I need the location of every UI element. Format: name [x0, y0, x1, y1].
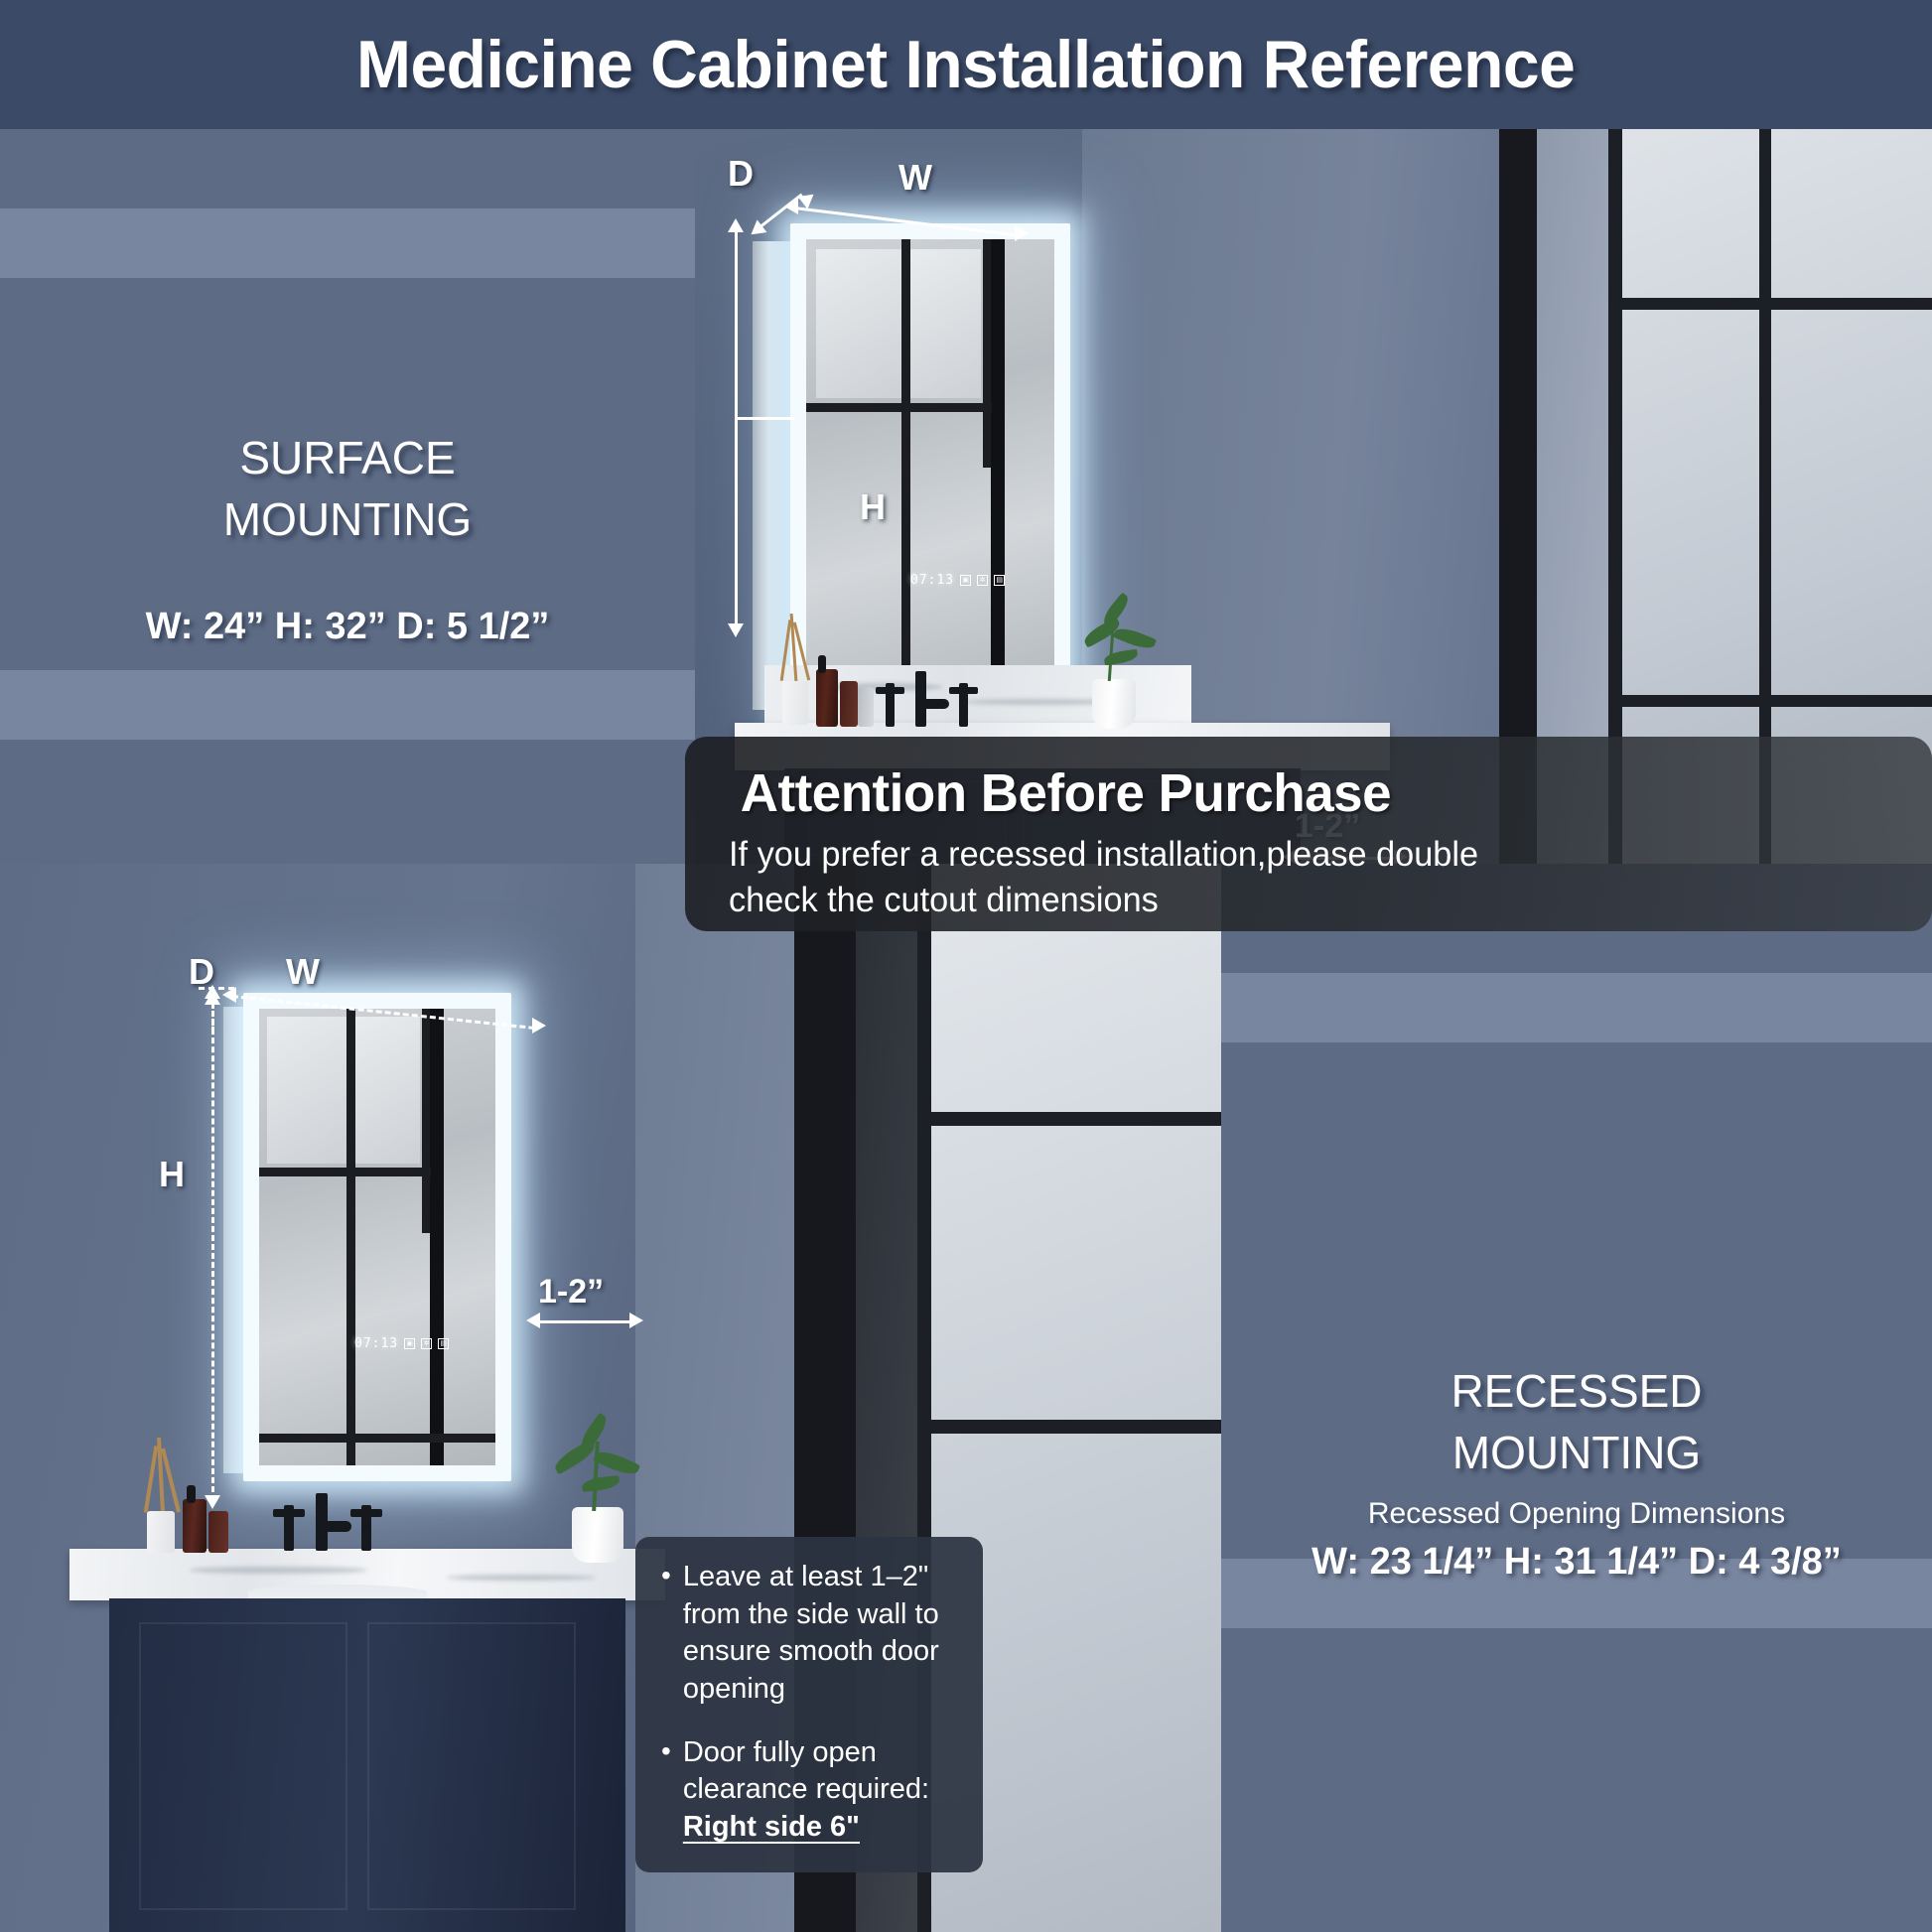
attention-body-line2: check the cutout dimensions	[729, 878, 1874, 923]
mullion-h-recessed-1	[917, 1112, 1221, 1126]
faucet-handle-left-cross	[876, 687, 904, 694]
decor-band-3	[1221, 973, 1932, 1042]
plant-leaf	[581, 1475, 620, 1492]
installation-notes: • Leave at least 1–2" from the side wall…	[635, 1537, 983, 1872]
surface-dimensions: W: 24” H: 32” D: 5 1/2”	[0, 606, 695, 648]
mirror-recessed: 07:13 ▣ ✲ ▤	[259, 1009, 495, 1465]
recessed-subtitle: Recessed Opening Dimensions	[1221, 1497, 1932, 1531]
led-button-defog[interactable]: ▣	[404, 1338, 415, 1349]
dim-arrow-h-up	[728, 218, 744, 232]
marble-vein	[189, 1567, 367, 1574]
mirror-line-h1	[806, 403, 992, 412]
led-control-panel[interactable]: 07:13 ▣ ✲ ▤	[910, 573, 1005, 588]
page-title: Medicine Cabinet Installation Reference	[356, 26, 1575, 103]
infographic-root: Medicine Cabinet Installation Reference	[0, 0, 1932, 1932]
dim-label-w-bottom: W	[286, 951, 320, 993]
dim-line-h-bottom	[211, 993, 214, 1501]
decor-band-2	[0, 670, 695, 740]
mirror-surface: 07:13 ▣ ✲ ▤	[806, 239, 1054, 704]
mirror-line-v3	[430, 1009, 444, 1465]
surface-title-line2: MOUNTING	[0, 488, 695, 550]
recessed-mounting-panel: 07:13 ▣ ✲ ▤	[0, 864, 1932, 1932]
amber-bottle-1-cap	[818, 655, 826, 673]
note-text-1: Leave at least 1–2" from the side wall t…	[683, 1559, 957, 1709]
attention-body-line1: If you prefer a recessed installation,pl…	[729, 832, 1874, 878]
led-control-panel-recessed[interactable]: 07:13 ▣ ✲ ▤	[354, 1336, 449, 1351]
dim-arrow-h-down-bottom	[205, 1495, 220, 1509]
note-item-1: • Leave at least 1–2" from the side wall…	[661, 1559, 957, 1709]
led-button-power[interactable]: ▤	[438, 1338, 449, 1349]
mirror-line-h2	[259, 1434, 495, 1443]
amber-bottle-1	[816, 669, 838, 727]
vanity-base-recessed	[109, 1598, 625, 1932]
vanity-door-left[interactable]	[139, 1622, 347, 1910]
silver-bottle	[858, 687, 874, 727]
dim-label-d-top: D	[728, 153, 754, 195]
recessed-title-line2: MOUNTING	[1221, 1422, 1932, 1483]
mirror-reflection-pane-2	[354, 1017, 420, 1164]
dim-arrow-gap-right-bottom	[629, 1312, 643, 1328]
mirror-line-v3	[991, 239, 1005, 704]
dim-label-w-top: W	[898, 157, 932, 199]
diffuser-bottle	[147, 1511, 175, 1553]
dim-tick-h-top	[735, 417, 794, 420]
faucet-spout-curve	[915, 699, 949, 709]
led-button-defog[interactable]: ▣	[960, 575, 971, 586]
recessed-dimensions: W: 23 1/4” H: 31 1/4” D: 4 3/8”	[1221, 1541, 1932, 1584]
bullet-icon: •	[661, 1734, 671, 1847]
attention-banner: Attention Before Purchase If you prefer …	[685, 737, 1932, 931]
note-item-2: • Door fully open clearance required: Ri…	[661, 1734, 957, 1847]
dim-arrow-w-right	[1015, 225, 1029, 241]
mirror-reflection-pane-1	[267, 1017, 346, 1164]
recessed-mounting-text: RECESSED MOUNTING Recessed Opening Dimen…	[1221, 1360, 1932, 1584]
mirror-line-v1	[346, 1009, 355, 1465]
mullion-h-bottom	[1608, 695, 1932, 707]
marble-vein	[447, 1575, 596, 1581]
amber-bottle-2	[208, 1511, 228, 1553]
mirror-line-v1	[901, 239, 910, 704]
note-text-2: Door fully open clearance required: Righ…	[683, 1734, 957, 1847]
mullion-h-top	[1608, 298, 1932, 310]
led-clock: 07:13	[910, 573, 954, 588]
plant-pot	[1092, 679, 1136, 729]
vanity-door-right[interactable]	[367, 1622, 576, 1910]
mullion-h-recessed-2	[917, 1420, 1221, 1434]
surface-mounting-text: SURFACE MOUNTING W: 24” H: 32” D: 5 1/2”	[0, 427, 695, 648]
medicine-cabinet-recessed: 07:13 ▣ ✲ ▤	[223, 993, 521, 1489]
dim-arrow-gap-left-bottom	[526, 1312, 540, 1328]
dim-line-gap-bottom	[536, 1320, 637, 1323]
attention-title: Attention Before Purchase	[741, 762, 1886, 824]
dim-arrow-h-up-bottom	[205, 985, 220, 999]
plant-pot-recessed	[572, 1507, 623, 1563]
mirror-line-h1	[259, 1168, 431, 1176]
dim-label-h-bottom: H	[159, 1154, 185, 1195]
dim-label-gap-bottom: 1-2”	[538, 1273, 604, 1311]
amber-bottle-2	[840, 681, 858, 727]
header-bar: Medicine Cabinet Installation Reference	[0, 0, 1932, 129]
faucet-handle-right-cross	[949, 687, 978, 694]
dim-label-h-top: H	[860, 486, 886, 528]
diffuser-bottle	[782, 681, 808, 725]
cabinet-side-recessed	[223, 1007, 245, 1473]
dim-arrow-h-down	[728, 623, 744, 637]
decor-band-1	[0, 208, 695, 278]
led-button-power[interactable]: ▤	[994, 575, 1005, 586]
faucet-handle-left-cross	[273, 1509, 305, 1517]
dim-line-h-top	[735, 228, 738, 625]
note-text-2-main: Door fully open clearance required:	[683, 1736, 929, 1806]
surface-title-line1: SURFACE	[0, 427, 695, 488]
led-button-brightness[interactable]: ✲	[977, 575, 988, 586]
amber-bottle-1-cap	[187, 1485, 196, 1503]
faucet-spout-curve	[316, 1521, 351, 1532]
led-button-brightness[interactable]: ✲	[421, 1338, 432, 1349]
dim-arrow-w-right-bottom	[532, 1018, 546, 1034]
mirror-reflection-pane-1	[816, 249, 901, 398]
mirror-reflection-pane-2	[909, 249, 981, 398]
note-text-2-emphasis: Right side 6"	[683, 1811, 860, 1843]
led-clock: 07:13	[354, 1336, 398, 1351]
bullet-icon: •	[661, 1559, 671, 1709]
faucet-handle-right-cross	[350, 1509, 382, 1517]
amber-bottle-1	[183, 1499, 207, 1553]
recessed-title-line1: RECESSED	[1221, 1360, 1932, 1422]
